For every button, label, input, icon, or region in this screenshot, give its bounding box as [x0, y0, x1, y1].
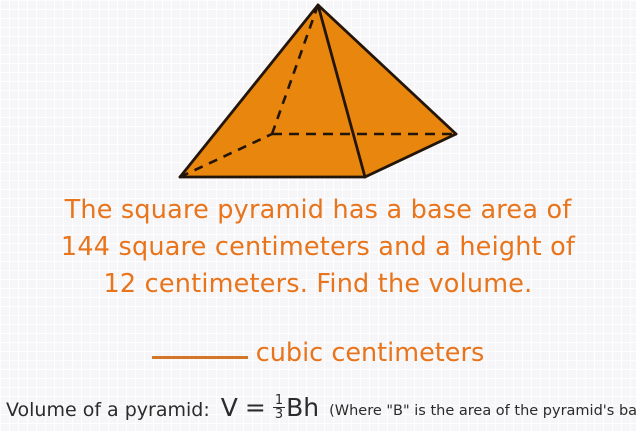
fraction-numerator: 1	[273, 394, 285, 407]
square-pyramid-illustration	[0, 0, 636, 190]
formula-one-third-fraction: 1 3	[273, 394, 285, 422]
pyramid-silhouette-fill	[180, 5, 456, 177]
answer-blank-input[interactable]	[152, 356, 248, 359]
problem-line-3: 12 centimeters. Find the volume.	[0, 266, 636, 303]
fraction-denominator: 3	[273, 407, 285, 421]
pyramid-figure	[0, 0, 636, 190]
problem-line-2: 144 square centimeters and a height of	[0, 229, 636, 266]
formula-variable-v: V	[221, 393, 238, 422]
problem-statement: The square pyramid has a base area of 14…	[0, 192, 636, 303]
answer-units-label: cubic centimeters	[256, 338, 485, 368]
formula-reference: Volume of a pyramid: V = 1 3 Bh (Where "…	[6, 393, 636, 422]
formula-note: (Where "B" is the area of the pyramid's …	[329, 403, 636, 419]
formula-expression: V = 1 3 Bh	[221, 393, 319, 422]
answer-row: cubic centimeters	[0, 338, 636, 368]
formula-body-bh: Bh	[286, 393, 319, 422]
formula-equals-sign: =	[245, 393, 266, 422]
problem-line-1: The square pyramid has a base area of	[0, 192, 636, 229]
formula-label: Volume of a pyramid:	[6, 399, 210, 421]
worksheet-page: The square pyramid has a base area of 14…	[0, 0, 636, 431]
